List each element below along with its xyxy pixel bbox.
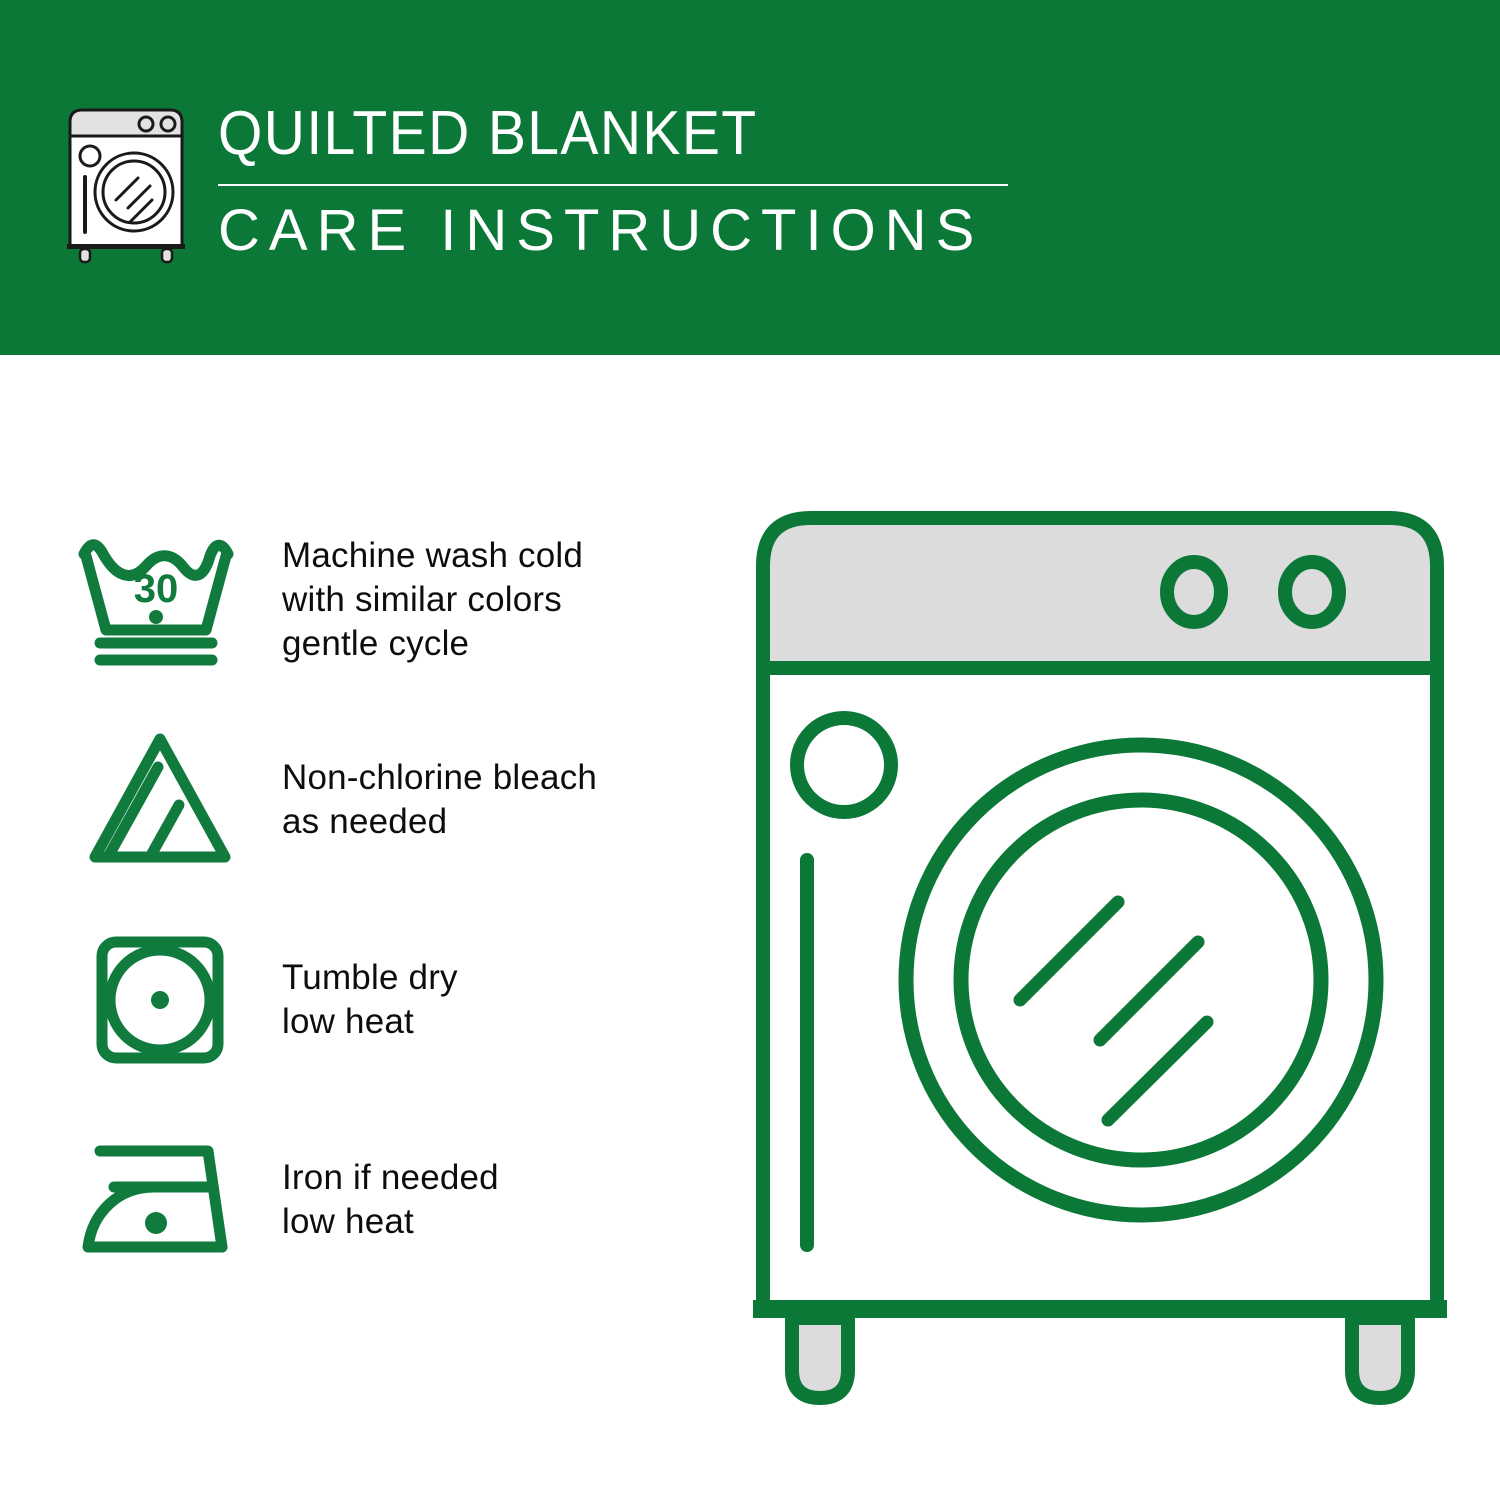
care-line: with similar colors [282, 578, 583, 622]
care-line: low heat [282, 1000, 458, 1044]
care-line: Tumble dry [282, 956, 458, 1000]
leg-right [1352, 1318, 1408, 1398]
leg-left [792, 1318, 848, 1398]
care-row-wash: 30 Machine wash cold with similar colors… [60, 500, 720, 700]
care-row-iron: Iron if needed low heat [60, 1100, 720, 1300]
washing-machine-illustration [745, 500, 1455, 1430]
iron-low-heat-icon [60, 1135, 260, 1265]
title-divider [218, 184, 1008, 186]
care-label-tumble-dry: Tumble dry low heat [260, 956, 458, 1044]
page-subtitle: CARE INSTRUCTIONS [218, 198, 1018, 264]
header-text-block: QUILTED BLANKET CARE INSTRUCTIONS [218, 98, 1018, 264]
care-label-wash: Machine wash cold with similar colors ge… [260, 534, 583, 666]
care-line: Machine wash cold [282, 534, 583, 578]
care-line: gentle cycle [282, 622, 583, 666]
care-line: Iron if needed [282, 1156, 499, 1200]
care-row-tumble-dry: Tumble dry low heat [60, 900, 720, 1100]
wash-tub-30-gentle-icon: 30 [60, 530, 260, 670]
care-line: as needed [282, 800, 597, 844]
care-line: low heat [282, 1200, 499, 1244]
care-instructions-page: QUILTED BLANKET CARE INSTRUCTIONS [0, 0, 1500, 1500]
page-title: QUILTED BLANKET [218, 98, 954, 170]
base-bar [753, 1300, 1447, 1318]
tumble-dry-low-icon [60, 925, 260, 1075]
header-banner: QUILTED BLANKET CARE INSTRUCTIONS [0, 0, 1500, 355]
care-row-bleach: Non-chlorine bleach as needed [60, 700, 720, 900]
care-line: Non-chlorine bleach [282, 756, 597, 800]
wash-temperature-value: 30 [134, 567, 179, 611]
care-label-bleach: Non-chlorine bleach as needed [260, 756, 597, 844]
care-instruction-list: 30 Machine wash cold with similar colors… [60, 500, 720, 1300]
care-label-iron: Iron if needed low heat [260, 1156, 499, 1244]
non-chlorine-bleach-triangle-icon [60, 725, 260, 875]
washing-machine-icon [62, 104, 197, 264]
